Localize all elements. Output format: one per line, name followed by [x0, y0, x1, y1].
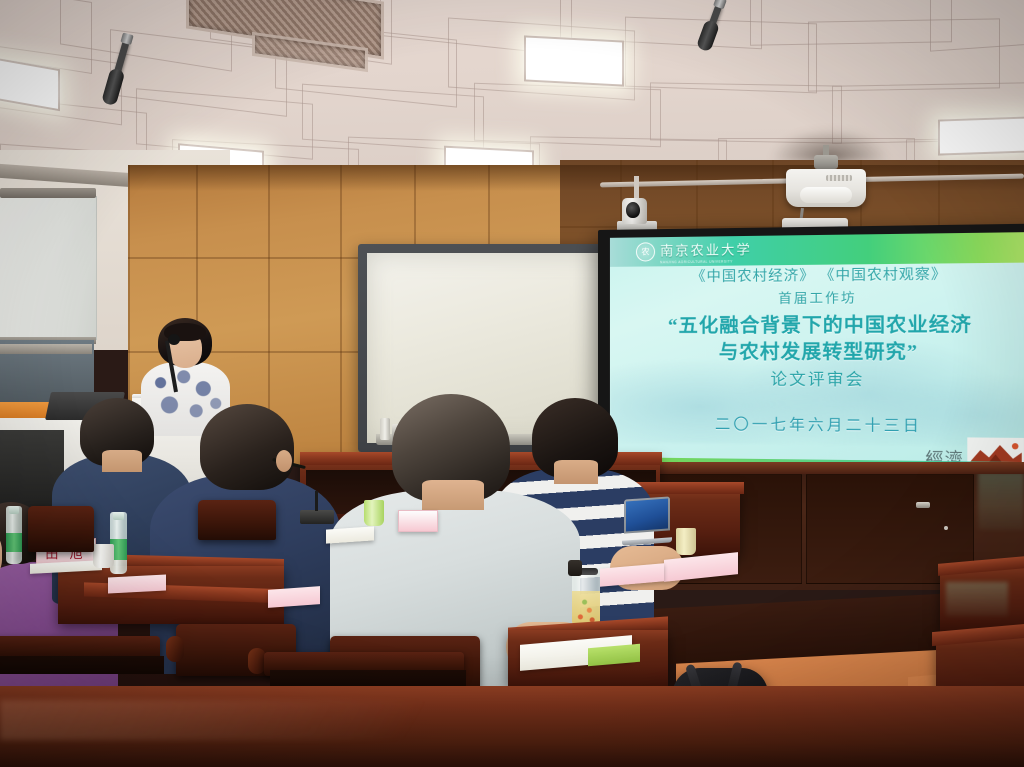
laptop-screen[interactable] — [626, 499, 668, 532]
university-logo: 农 南京农业大学 NANJING AGRICULTURAL UNIVERSITY — [636, 238, 752, 264]
projection-screen-frame: 农 南京农业大学 NANJING AGRICULTURAL UNIVERSITY… — [598, 223, 1024, 486]
chair-back[interactable] — [198, 500, 276, 540]
glass-tea-jar[interactable] — [572, 568, 600, 628]
conference-room-photo: 农 南京农业大学 NANJING AGRICULTURAL UNIVERSITY… — [0, 0, 1024, 767]
paper-cup[interactable] — [93, 544, 114, 568]
window-frame — [0, 344, 92, 354]
bottle-cap — [9, 506, 20, 514]
projector-vent — [826, 175, 852, 181]
cabinet-led-icon — [944, 526, 948, 530]
ceiling-light — [524, 35, 624, 86]
ceiling-projector — [786, 163, 866, 213]
water-bottle[interactable] — [6, 506, 22, 564]
chair-back[interactable] — [28, 506, 94, 552]
desk-mic-stem — [315, 491, 318, 511]
desk-mic-base — [300, 510, 334, 524]
slide-line-workshop: 首届工作坊 — [610, 288, 1024, 309]
desk-reflection — [0, 700, 640, 740]
slide-line-event: 论文评审会 — [610, 369, 1024, 392]
slide-line-theme-1: “五化融合背景下的中国农业经济 — [610, 312, 1024, 340]
attendee-grey-tshirt-neck — [422, 480, 484, 510]
attendee-navy-glasses-ear — [276, 450, 292, 472]
ceiling-light — [938, 116, 1024, 155]
university-seal-icon: 农 — [636, 242, 655, 261]
screen-reflection-desk — [946, 582, 1008, 616]
pink-review-documents[interactable] — [108, 574, 166, 593]
chair-knob — [166, 636, 184, 662]
green-paper-cup[interactable] — [364, 500, 384, 526]
attendee-navy-glasses-head — [200, 404, 294, 490]
laptop[interactable] — [624, 496, 670, 545]
jar-cap-secondary — [568, 560, 582, 576]
projector-mount — [814, 155, 838, 169]
bench-rail-shadow — [0, 656, 164, 674]
attendee-navy-left-neck — [102, 450, 142, 472]
cabinet-handle[interactable] — [916, 502, 930, 508]
window-roller-blind[interactable] — [0, 196, 97, 340]
slide-line-date: 二〇一七年六月二十三日 — [610, 414, 1024, 438]
projector-lens-icon — [800, 187, 852, 203]
bottle-cap — [113, 512, 125, 520]
blind-rail — [0, 188, 96, 198]
camera-mount-arm — [634, 176, 639, 200]
laptop-lid — [624, 496, 670, 533]
name-card-blank — [398, 510, 438, 532]
slide-text-block: 《中国农村经济》 《中国农村观察》 首届工作坊 “五化融合背景下的中国农业经济 … — [610, 266, 1024, 439]
slide-line-theme-2: 与农村发展转型研究” — [610, 339, 1024, 366]
screen-reflection — [978, 472, 1024, 530]
university-name-en: NANJING AGRICULTURAL UNIVERSITY — [660, 259, 752, 264]
projection-screen: 农 南京农业大学 NANJING AGRICULTURAL UNIVERSITY… — [610, 232, 1024, 476]
conference-desk-microphone[interactable] — [300, 490, 334, 524]
ptz-camera — [617, 198, 657, 232]
camera-lens-icon — [626, 202, 640, 218]
beverage-cup[interactable] — [676, 528, 696, 555]
lectern-microphone-head-icon — [168, 334, 180, 345]
slide-header-band: 农 南京农业大学 NANJING AGRICULTURAL UNIVERSITY — [610, 232, 1024, 267]
pink-review-documents[interactable] — [268, 586, 320, 608]
slide-line-journals: 《中国农村经济》 《中国农村观察》 — [610, 266, 1024, 289]
university-name-cn: 南京农业大学 — [660, 238, 752, 258]
